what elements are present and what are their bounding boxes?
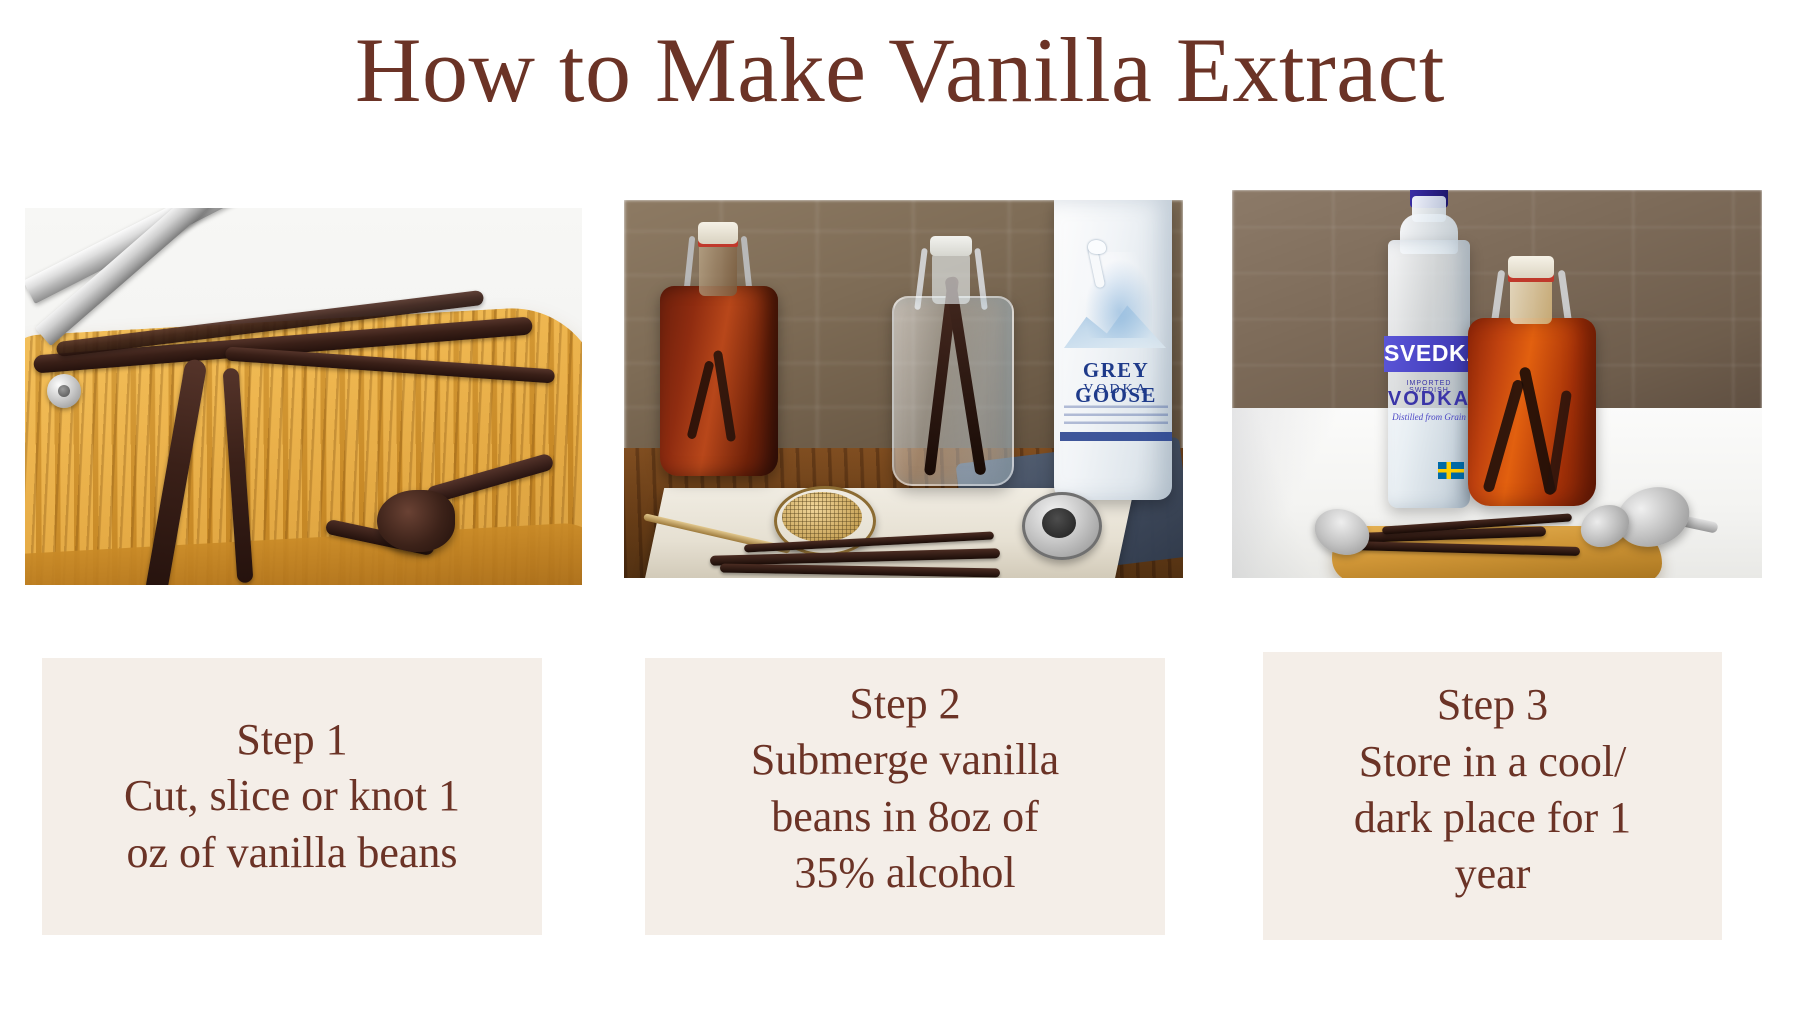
goose-head-icon [1088,240,1106,254]
step-2-caption-text: Step 2 Submerge vanilla beans in 8oz of … [743,676,1067,901]
bottle-neck [932,252,970,304]
grey-goose-bottle [1054,200,1172,500]
bottle-neck [699,240,737,296]
step-1-photo [25,208,582,585]
scissors-screw [58,385,70,397]
bottle-stopper [698,222,738,244]
bottle-stopper [930,236,972,256]
jigger-opening [1042,508,1076,538]
step-3-caption-text: Step 3 Store in a cool/ dark place for 1… [1346,677,1639,902]
page-title: How to Make Vanilla Extract [0,22,1800,119]
step-2-photo: GREY GOOSE VODKA [624,200,1183,578]
svedka-brand-text: SVEDKA [1384,340,1474,367]
step-3-photo: SVEDKA IMPORTED SWEDISH VODKA Distilled … [1232,190,1762,578]
grey-goose-vodka-text: VODKA [1060,382,1172,398]
bottle-stopper [1508,256,1554,278]
svedka-vodka-text: VODKA [1384,388,1474,411]
step-3-caption-box: Step 3 Store in a cool/ dark place for 1… [1263,652,1722,940]
strainer-mesh [782,492,862,542]
swedish-flag-icon [1438,462,1464,479]
step-1-caption-text: Step 1 Cut, slice or knot 1 oz of vanill… [116,712,468,881]
grey-goose-label-band [1060,432,1172,441]
grey-goose-fineprint [1064,404,1168,424]
svedka-script-text: Distilled from Grain [1392,412,1466,422]
knotted-vanilla-bean [377,490,455,552]
step-2-caption-box: Step 2 Submerge vanilla beans in 8oz of … [645,658,1165,935]
step-1-caption-box: Step 1 Cut, slice or knot 1 oz of vanill… [42,658,542,935]
